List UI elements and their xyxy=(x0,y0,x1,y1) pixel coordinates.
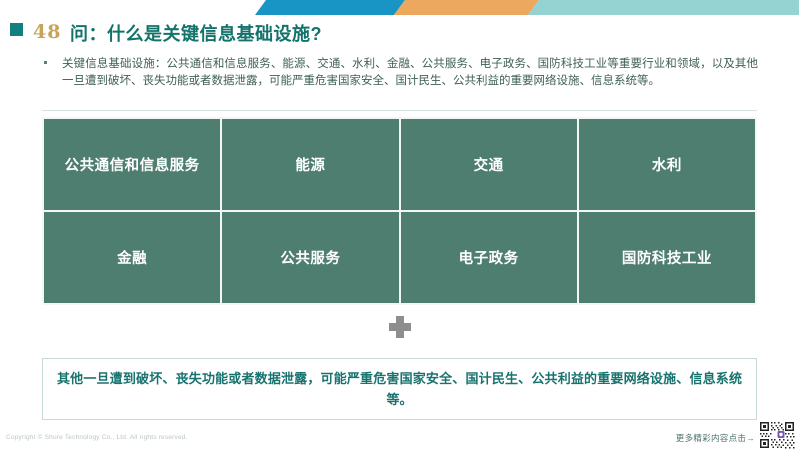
intro-bullet-block: 关键信息基础设施：公共通信和信息服务、能源、交通、水利、金融、公共服务、电子政务… xyxy=(44,56,758,89)
plus-icon xyxy=(389,316,411,338)
table-cell-transport: 交通 xyxy=(401,119,577,210)
slide-title-row: 48 问：什么是关键信息基础设施? xyxy=(0,18,799,48)
ribbon-segment-orange xyxy=(394,0,539,15)
table-cell-defense-industry: 国防科技工业 xyxy=(579,212,755,303)
table-cell-finance: 金融 xyxy=(44,212,220,303)
copyright-notice: Copyright © Shure Technology Co., Ltd. A… xyxy=(6,434,188,441)
table-cell-water: 水利 xyxy=(579,119,755,210)
ribbon-segment-teal xyxy=(528,0,799,15)
ribbon-segment-blue xyxy=(255,0,405,15)
bullet-dot-icon xyxy=(44,61,47,64)
table-cell-public-service: 公共服务 xyxy=(222,212,398,303)
top-decorative-ribbon xyxy=(0,0,799,15)
title-square-marker xyxy=(10,23,23,36)
connector-row xyxy=(0,316,799,344)
callout-text: 其他一旦遭到破坏、丧失功能或者数据泄露，可能严重危害国家安全、国计民生、公共利益… xyxy=(57,368,742,410)
table-cell-energy: 能源 xyxy=(222,119,398,210)
intro-bullet-text: 关键信息基础设施：公共通信和信息服务、能源、交通、水利、金融、公共服务、电子政务… xyxy=(62,56,758,89)
page-title: 问：什么是关键信息基础设施? xyxy=(70,20,322,46)
table-cell-e-government: 电子政务 xyxy=(401,212,577,303)
qr-code-icon[interactable] xyxy=(758,420,796,450)
slide-canvas: 48 问：什么是关键信息基础设施? 关键信息基础设施：公共通信和信息服务、能源、… xyxy=(0,0,799,450)
sectors-table: 公共通信和信息服务 能源 交通 水利 金融 公共服务 电子政务 国防科技工业 xyxy=(42,117,757,305)
slide-number: 48 xyxy=(33,21,61,43)
callout-box: 其他一旦遭到破坏、丧失功能或者数据泄露，可能严重危害国家安全、国计民生、公共利益… xyxy=(42,358,757,420)
table-cell-public-communication: 公共通信和信息服务 xyxy=(44,119,220,210)
divider-above-table xyxy=(42,110,757,111)
more-content-link[interactable]: 更多精彩内容点击→ xyxy=(676,432,755,444)
